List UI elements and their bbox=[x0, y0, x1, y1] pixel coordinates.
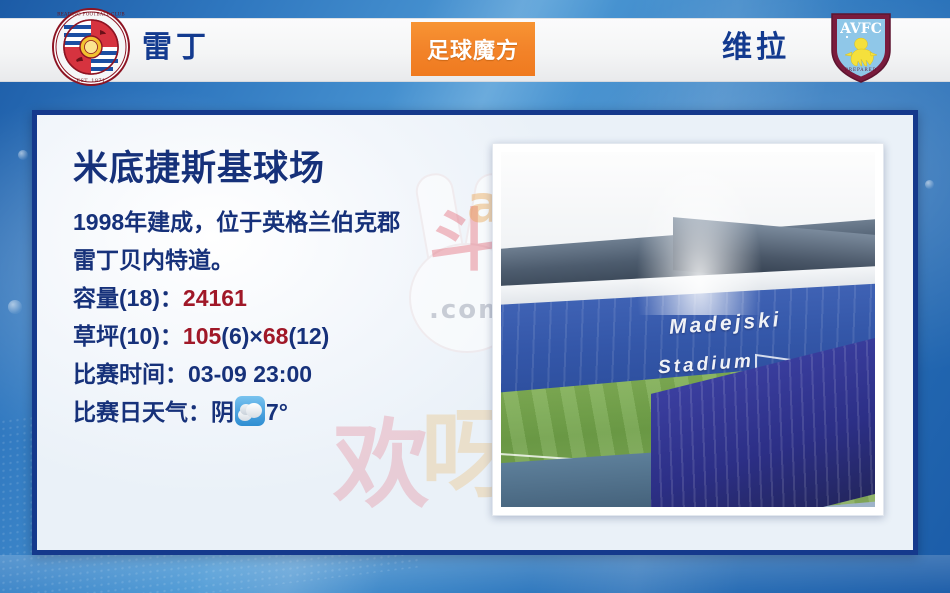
match-time-label: 比赛时间： bbox=[73, 361, 188, 387]
weather-condition: 阴 bbox=[211, 399, 234, 425]
pitch-size-row: 草坪(10)：105(6)×68(12) bbox=[73, 317, 493, 355]
pitch-width-rank: (12) bbox=[288, 323, 329, 349]
capacity-label: 容量(18)： bbox=[73, 285, 183, 311]
stadium-description-line-2: 雷丁贝内特道。 bbox=[73, 241, 493, 279]
away-team-name: 维拉 bbox=[722, 28, 790, 68]
pitch-length-value: 105 bbox=[183, 323, 221, 349]
background-bubble bbox=[8, 300, 22, 314]
background-bubble bbox=[18, 150, 28, 160]
svg-text:EST. 1871: EST. 1871 bbox=[76, 78, 105, 84]
home-team-name: 雷丁 bbox=[142, 28, 210, 68]
pitch-width-value: 68 bbox=[263, 323, 289, 349]
stadium-info-block: 米底捷斯基球场 1998年建成，位于英格兰伯克郡 雷丁贝内特道。 容量(18)：… bbox=[73, 147, 493, 431]
pitch-size-label: 草坪(10)： bbox=[73, 323, 183, 349]
match-time-value: 03-09 23:00 bbox=[188, 361, 312, 387]
site-logo-label: 足球魔方 bbox=[427, 33, 519, 65]
madejski-stadium-photo: Madejski Stadium bbox=[492, 143, 884, 516]
weather-label: 比赛日天气： bbox=[73, 399, 211, 425]
svg-text:READING FOOTBALL CLUB: READING FOOTBALL CLUB bbox=[57, 13, 125, 18]
pitch-size-times: × bbox=[249, 323, 262, 349]
site-logo[interactable]: 足球魔方 bbox=[411, 22, 535, 76]
capacity-value: 24161 bbox=[183, 285, 247, 311]
panel-bottom-fade bbox=[0, 555, 950, 593]
match-time-row: 比赛时间：03-09 23:00 bbox=[73, 355, 493, 393]
pitch-length-rank: (6) bbox=[221, 323, 249, 349]
background-bubble bbox=[925, 180, 934, 189]
reading-fc-crest: READING FOOTBALL CLUB EST. 1871 bbox=[52, 8, 130, 86]
svg-text:PREPARED: PREPARED bbox=[845, 67, 877, 72]
cloudy-weather-icon bbox=[235, 396, 265, 426]
capacity-row: 容量(18)：24161 bbox=[73, 279, 493, 317]
stadium-description-line-1: 1998年建成，位于英格兰伯克郡 bbox=[73, 203, 493, 241]
match-stadium-infographic: READING FOOTBALL CLUB EST. 1871 雷丁 足球魔方 … bbox=[0, 0, 950, 593]
stadium-title: 米底捷斯基球场 bbox=[73, 147, 493, 191]
stadium-info-panel: 斗 a .com 欢 呀 米底捷斯基球场 1998年建成，位于英格兰伯克郡 雷丁… bbox=[32, 110, 918, 555]
weather-temperature: 7° bbox=[266, 399, 288, 425]
weather-row: 比赛日天气：阴7° bbox=[73, 393, 493, 431]
svg-text:AVFC: AVFC bbox=[839, 21, 882, 37]
aston-villa-crest: AVFC PREPARED bbox=[822, 8, 900, 86]
